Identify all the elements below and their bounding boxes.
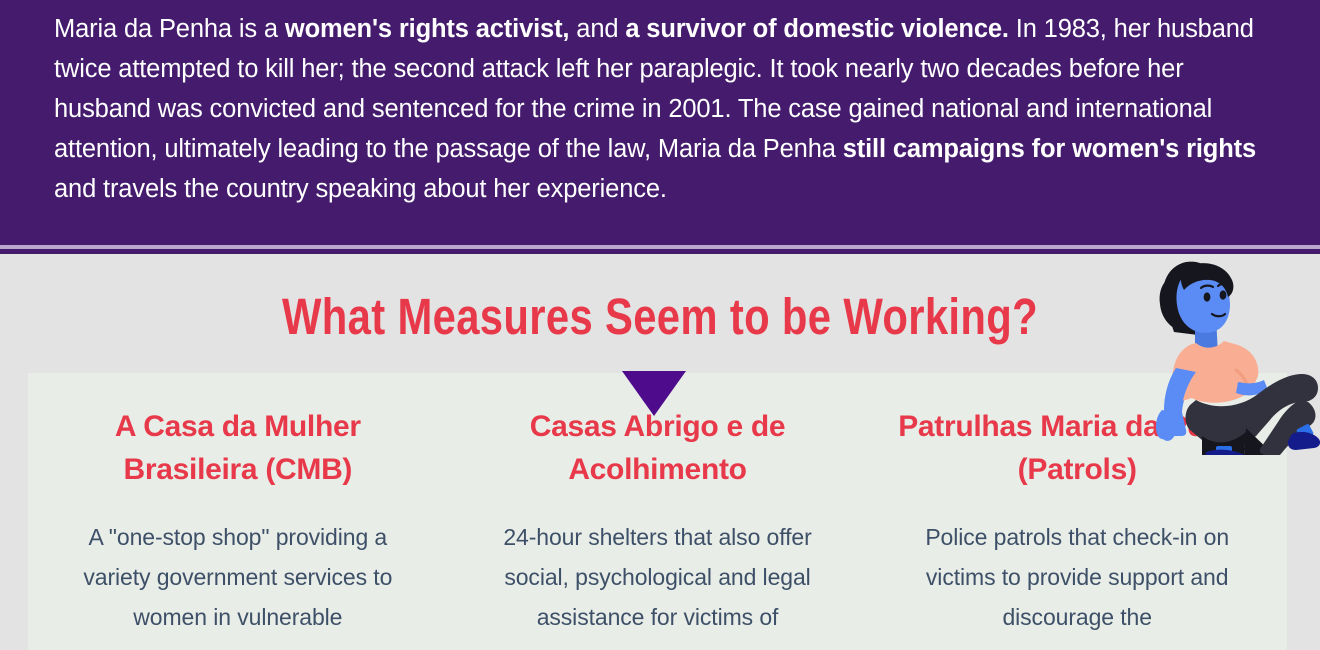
measure-column-cmb: A Casa da Mulher Brasileira (CMB) A "one… (28, 405, 448, 650)
measure-description: A "one-stop shop" providing a variety go… (50, 517, 426, 637)
measure-column-casas-abrigo: Casas Abrigo e de Acolhimento 24-hour sh… (448, 405, 868, 650)
measure-title: A Casa da Mulher Brasileira (CMB) (50, 405, 426, 491)
measures-columns: A Casa da Mulher Brasileira (CMB) A "one… (28, 405, 1287, 650)
illustration-eye-left (1204, 292, 1211, 301)
measure-description: 24-hour shelters that also offer social,… (470, 517, 846, 637)
illustration-brow-left (1201, 286, 1213, 288)
illustration-brow-right (1218, 284, 1229, 286)
intro-paragraph-segment: and travels the country speaking about h… (54, 175, 667, 203)
intro-paragraph: Maria da Penha is a women's rights activ… (54, 9, 1269, 209)
intro-paragraph-segment: a survivor of domestic violence. (625, 15, 1009, 43)
intro-paragraph-segment: and (569, 15, 625, 43)
intro-paragraph-segment: still campaigns for women's rights (843, 135, 1256, 163)
illustration-shoe-right (1288, 432, 1320, 450)
intro-paragraph-segment: Maria da Penha is a (54, 15, 285, 43)
banner-divider-dark-stripe (0, 249, 1320, 254)
measure-title: Casas Abrigo e de Acolhimento (470, 405, 846, 491)
illustration-sock-right (1296, 423, 1314, 440)
measure-description: Police patrols that check-in on victims … (889, 517, 1265, 637)
intro-paragraph-segment: women's rights activist, (285, 15, 569, 43)
infographic-page: Maria da Penha is a women's rights activ… (0, 0, 1320, 650)
measure-column-patrulhas: Patrulhas Maria da Penha (Patrols) Polic… (867, 405, 1287, 650)
measure-title: Patrulhas Maria da Penha (Patrols) (889, 405, 1265, 491)
illustration-eye-right (1220, 290, 1227, 299)
intro-banner: Maria da Penha is a women's rights activ… (0, 0, 1320, 245)
section-title: What Measures Seem to be Working? (119, 288, 1201, 346)
illustration-mouth (1212, 314, 1225, 316)
